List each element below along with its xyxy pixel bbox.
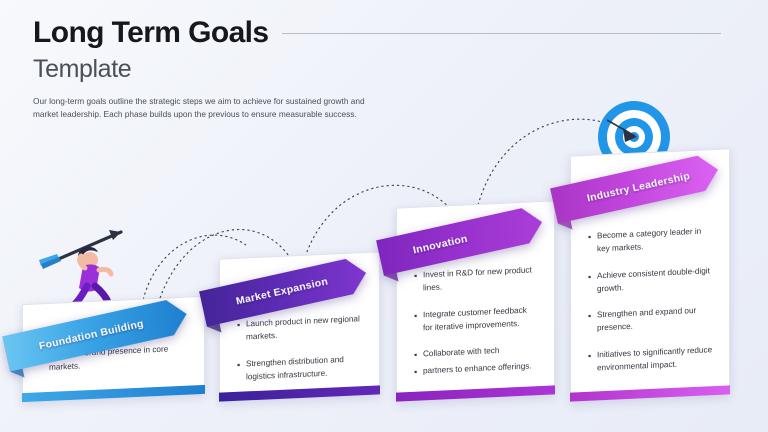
card-bullet-list: ▪ Become a category leader in key market… bbox=[570, 223, 730, 376]
page-title: Long Term Goals bbox=[33, 18, 268, 48]
list-item: ▪ Invest in R&D for new product lines. bbox=[414, 263, 538, 295]
bullet-marker-icon: ▪ bbox=[588, 309, 597, 336]
list-item: ▪ Strengthen and expand our presence. bbox=[588, 303, 713, 335]
bullet-marker-icon: ▪ bbox=[414, 268, 423, 295]
bullet-marker-icon: ▪ bbox=[414, 348, 423, 363]
bullet-marker-icon: ▪ bbox=[414, 364, 423, 379]
page-description: Our long-term goals outline the strategi… bbox=[33, 95, 378, 122]
title-divider-rule bbox=[282, 33, 721, 34]
slide-canvas: Long Term Goals Template Our long-term g… bbox=[0, 0, 768, 432]
bullet-marker-icon: ▪ bbox=[588, 269, 597, 296]
card-bullet-list: ▪ Invest in R&D for new product lines. ▪… bbox=[396, 262, 555, 380]
bullet-marker-icon: ▪ bbox=[414, 308, 423, 335]
list-item: ▪ Integrate customer feedback for iterat… bbox=[414, 303, 538, 335]
bullet-marker-icon: ▪ bbox=[588, 348, 597, 375]
bullet-text: Become a category leader in key markets. bbox=[597, 224, 713, 256]
title-row: Long Term Goals bbox=[33, 18, 733, 48]
bullet-text: Strengthen distribution and logistics in… bbox=[246, 352, 363, 384]
bullet-text: Invest in R&D for new product lines. bbox=[423, 263, 538, 295]
list-item: ▪ Become a category leader in key market… bbox=[588, 224, 713, 256]
list-item: ▪ Achieve consistent double-digit growth… bbox=[588, 264, 713, 296]
stage-card-industry-leadership[interactable]: ▪ Become a category leader in key market… bbox=[570, 152, 730, 398]
bullet-marker-icon: ▪ bbox=[588, 229, 597, 256]
stage-card-innovation[interactable]: ▪ Invest in R&D for new product lines. ▪… bbox=[396, 204, 555, 398]
bullet-marker-icon: ▪ bbox=[237, 357, 246, 384]
stage-card-market-expansion[interactable]: ▪ Launch product in new regional markets… bbox=[219, 255, 380, 398]
bullet-text: Strengthen and expand our presence. bbox=[597, 303, 713, 335]
bullet-text: Integrate customer feedback for iterativ… bbox=[423, 303, 538, 335]
list-item: ▪ Initiatives to significantly reduce en… bbox=[588, 343, 713, 375]
bullet-text: Initiatives to significantly reduce envi… bbox=[597, 343, 713, 375]
card-bullet-list: ▪ Launch product in new regional markets… bbox=[219, 311, 380, 384]
list-item: ▪ Launch product in new regional markets… bbox=[237, 312, 363, 344]
bullet-marker-icon: ▪ bbox=[237, 317, 246, 344]
stage-card-foundation-building[interactable]: ▪ Establish brand presence in core marke… bbox=[22, 300, 205, 398]
page-subtitle: Template bbox=[33, 57, 733, 82]
bullet-text: Achieve consistent double-digit growth. bbox=[597, 264, 713, 296]
bullet-text: Launch product in new regional markets. bbox=[246, 312, 363, 344]
